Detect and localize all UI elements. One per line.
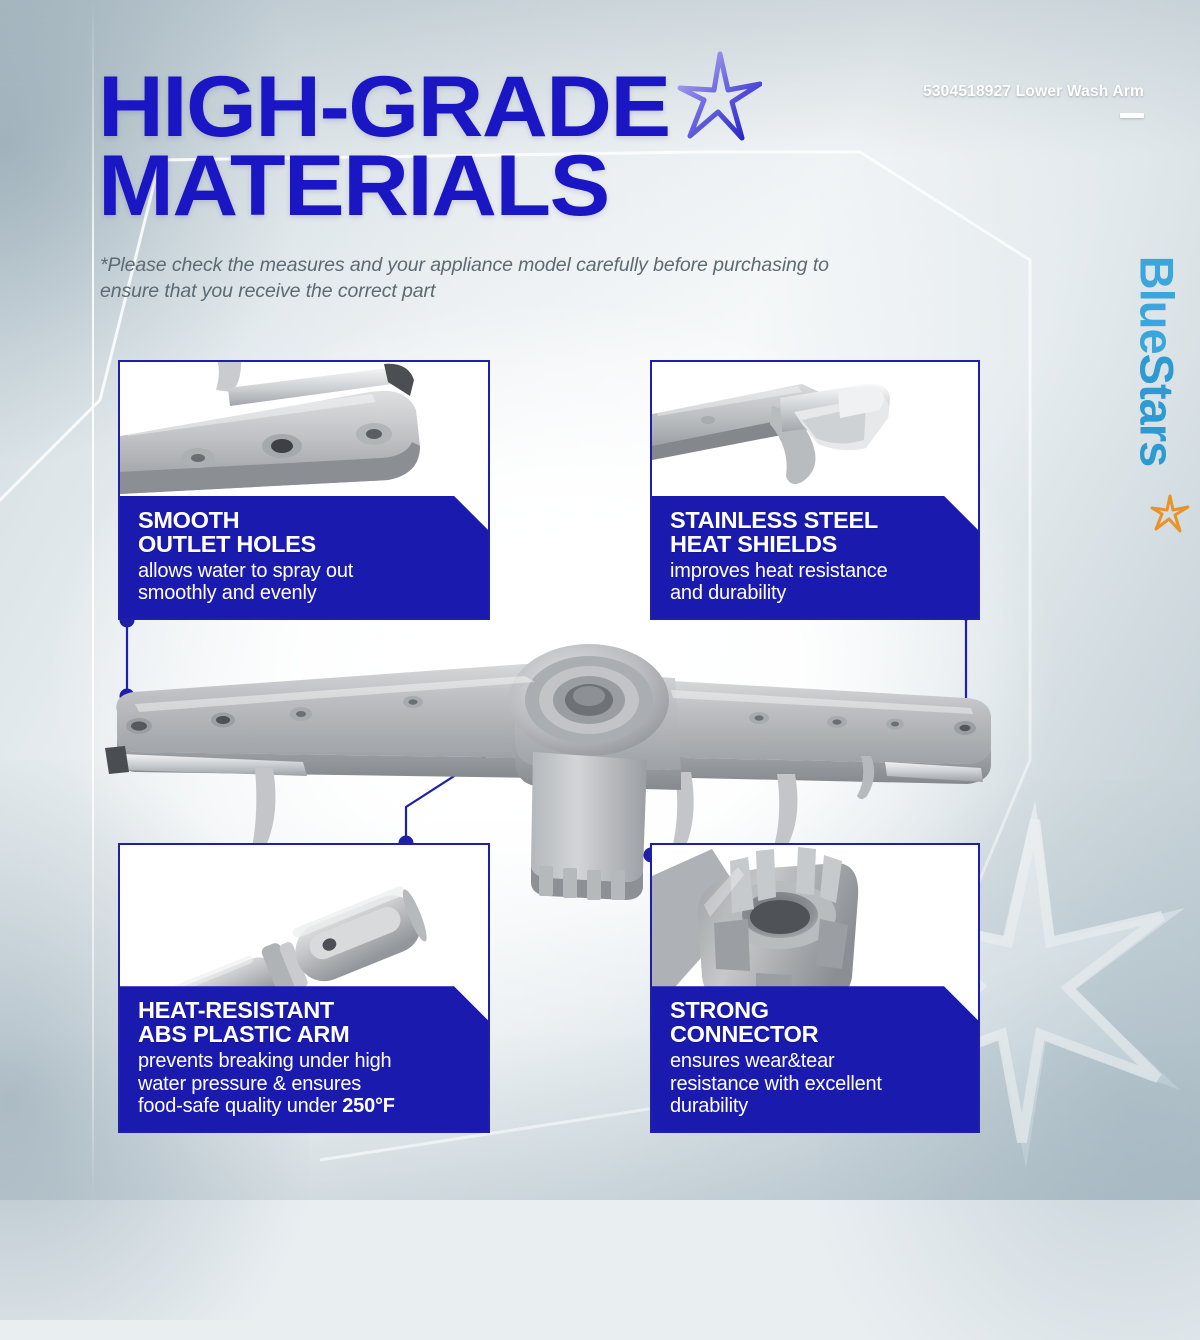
feature-panel-strong-connector: STRONG CONNECTOR ensures wear&tear resis… [650, 843, 980, 1133]
feature-desc-line1: prevents breaking under high [138, 1050, 474, 1073]
feature-desc-line3: durability [670, 1095, 964, 1118]
brand-logo-text: BlueStars [1130, 256, 1185, 466]
feature-title-line2: CONNECTOR [670, 1023, 964, 1047]
feature-desc-line3-text: food-safe quality under [138, 1095, 342, 1117]
feature-description: ensures wear&tear resistance with excell… [670, 1050, 964, 1118]
page-title-line2: MATERIALS [98, 147, 670, 226]
feature-panel-stainless-steel-heat-shields: STAINLESS STEEL HEAT SHIELDS improves he… [650, 360, 980, 620]
page-title: HIGH-GRADE MATERIALS [98, 68, 670, 226]
feature-title-line1: STAINLESS STEEL [670, 509, 964, 533]
part-number-label: 5304518927 Lower Wash Arm [923, 83, 1144, 101]
brand-logo: BlueStars [1128, 196, 1186, 526]
feature-title-line2: ABS PLASTIC ARM [138, 1023, 474, 1047]
disclaimer-line1: *Please check the measures and your appl… [100, 254, 708, 276]
feature-title-line1: HEAT-RESISTANT [138, 999, 474, 1023]
four-point-star-icon [676, 50, 762, 142]
feature-banner-stainless-steel-heat-shields: STAINLESS STEEL HEAT SHIELDS improves he… [650, 496, 980, 620]
feature-description: allows water to spray out smoothly and e… [138, 560, 474, 605]
feature-desc-temperature: 250°F [342, 1095, 395, 1117]
feature-desc-line2: resistance with excellent [670, 1073, 964, 1096]
feature-panel-smooth-outlet-holes: SMOOTH OUTLET HOLES allows water to spra… [118, 360, 490, 620]
feature-title-line1: STRONG [670, 999, 964, 1023]
feature-desc-line2: smoothly and evenly [138, 582, 474, 605]
feature-description: improves heat resistance and durability [670, 560, 964, 605]
feature-description: prevents breaking under high water press… [138, 1050, 474, 1118]
feature-title: STRONG CONNECTOR [670, 999, 964, 1047]
brand-name-stars: Stars [1131, 354, 1184, 467]
brand-star-icon [1150, 494, 1190, 534]
feature-title: HEAT-RESISTANT ABS PLASTIC ARM [138, 999, 474, 1047]
feature-desc-line1: improves heat resistance [670, 560, 964, 583]
feature-panel-heat-resistant-abs-plastic-arm: HEAT-RESISTANT ABS PLASTIC ARM prevents … [118, 843, 490, 1133]
brand-name-blue: Blue [1131, 256, 1184, 354]
feature-title-line2: HEAT SHIELDS [670, 533, 964, 557]
header-divider-dash [1120, 113, 1144, 118]
feature-title-line1: SMOOTH [138, 509, 474, 533]
feature-banner-smooth-outlet-holes: SMOOTH OUTLET HOLES allows water to spra… [118, 496, 490, 620]
feature-banner-heat-resistant-abs-plastic-arm: HEAT-RESISTANT ABS PLASTIC ARM prevents … [118, 986, 490, 1133]
feature-desc-line3: food-safe quality under 250°F [138, 1095, 474, 1118]
disclaimer-text: *Please check the measures and your appl… [100, 252, 860, 304]
feature-desc-line2: water pressure & ensures [138, 1073, 474, 1096]
feature-desc-line1: ensures wear&tear [670, 1050, 964, 1073]
feature-title: STAINLESS STEEL HEAT SHIELDS [670, 509, 964, 557]
feature-title: SMOOTH OUTLET HOLES [138, 509, 474, 557]
feature-title-line2: OUTLET HOLES [138, 533, 474, 557]
feature-banner-strong-connector: STRONG CONNECTOR ensures wear&tear resis… [650, 986, 980, 1133]
feature-desc-line1: allows water to spray out [138, 560, 474, 583]
feature-desc-line2: and durability [670, 582, 964, 605]
